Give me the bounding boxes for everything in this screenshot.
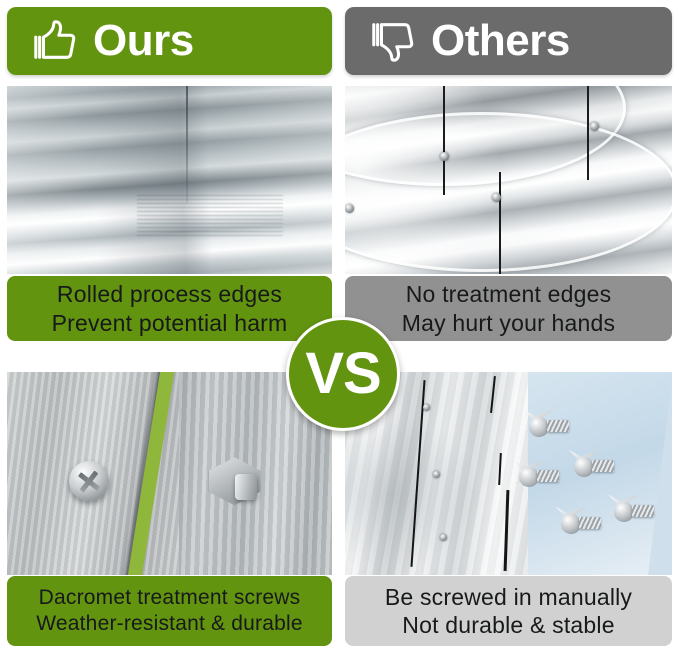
screw-head [590,122,599,131]
header-banner-others: Others [345,7,672,75]
wing-bolt [522,409,568,443]
panel-top-right [345,86,672,274]
caption-top-right: No treatment edges May hurt your hands [345,276,672,341]
photo-dacromet-screws [7,372,332,575]
panel-bottom-left [7,372,332,575]
phillips-screw-head [69,461,109,501]
header-banner-ours: Ours [7,7,332,75]
photo-rolled-edge [7,86,332,274]
comparison-infographic: Ours Others [0,0,679,655]
caption-line-1: Dacromet treatment screws [39,585,301,611]
panel-seam [499,172,501,274]
caption-line-1: Rolled process edges [57,280,282,308]
wing-bolt-dome [519,467,539,487]
wing-bolt-dome [614,502,634,522]
wing-bolt-shaft [537,470,559,482]
panel-bottom-right [345,372,672,575]
vs-badge: VS [286,317,400,431]
header-label-others: Others [431,19,570,63]
wing-bolt [512,459,558,493]
thumbs-down-icon [367,16,417,66]
photo-wing-bolts [345,372,672,575]
screw-head [440,152,449,161]
header-row: Ours Others [0,7,679,79]
wing-bolt-dome [529,417,549,437]
panel-seam [443,86,445,195]
wing-bolt-shaft [547,420,569,432]
thumbs-up-icon [29,16,79,66]
panel-rim [345,112,672,272]
wing-bolt-dome [574,457,594,477]
photo-raw-edge [345,86,672,274]
panel-seam [587,86,589,180]
wing-bolt [607,494,653,528]
panel-top-left [7,86,332,274]
caption-line-2: Not durable & stable [402,611,614,639]
wing-bolt [567,449,613,483]
header-label-ours: Ours [93,19,194,63]
caption-line-2: Weather-resistant & durable [36,611,302,637]
wing-bolt-shaft [632,505,654,517]
wing-bolt-dome [561,514,581,534]
hex-bolt-stud [235,474,257,500]
wing-bolt-shaft [579,517,601,529]
caption-line-2: Prevent potential harm [52,309,288,337]
panel-groove [137,195,283,236]
caption-top-left: Rolled process edges Prevent potential h… [7,276,332,341]
caption-line-1: Be screwed in manually [385,583,632,611]
wing-bolt [554,506,600,540]
caption-bottom-right: Be screwed in manually Not durable & sta… [345,576,672,646]
caption-line-1: No treatment edges [406,280,612,308]
caption-bottom-left: Dacromet treatment screws Weather-resist… [7,576,332,646]
caption-line-2: May hurt your hands [402,309,615,337]
panel-seam [186,86,188,203]
wing-bolt-shaft [592,460,614,472]
vs-label: VS [305,345,380,403]
